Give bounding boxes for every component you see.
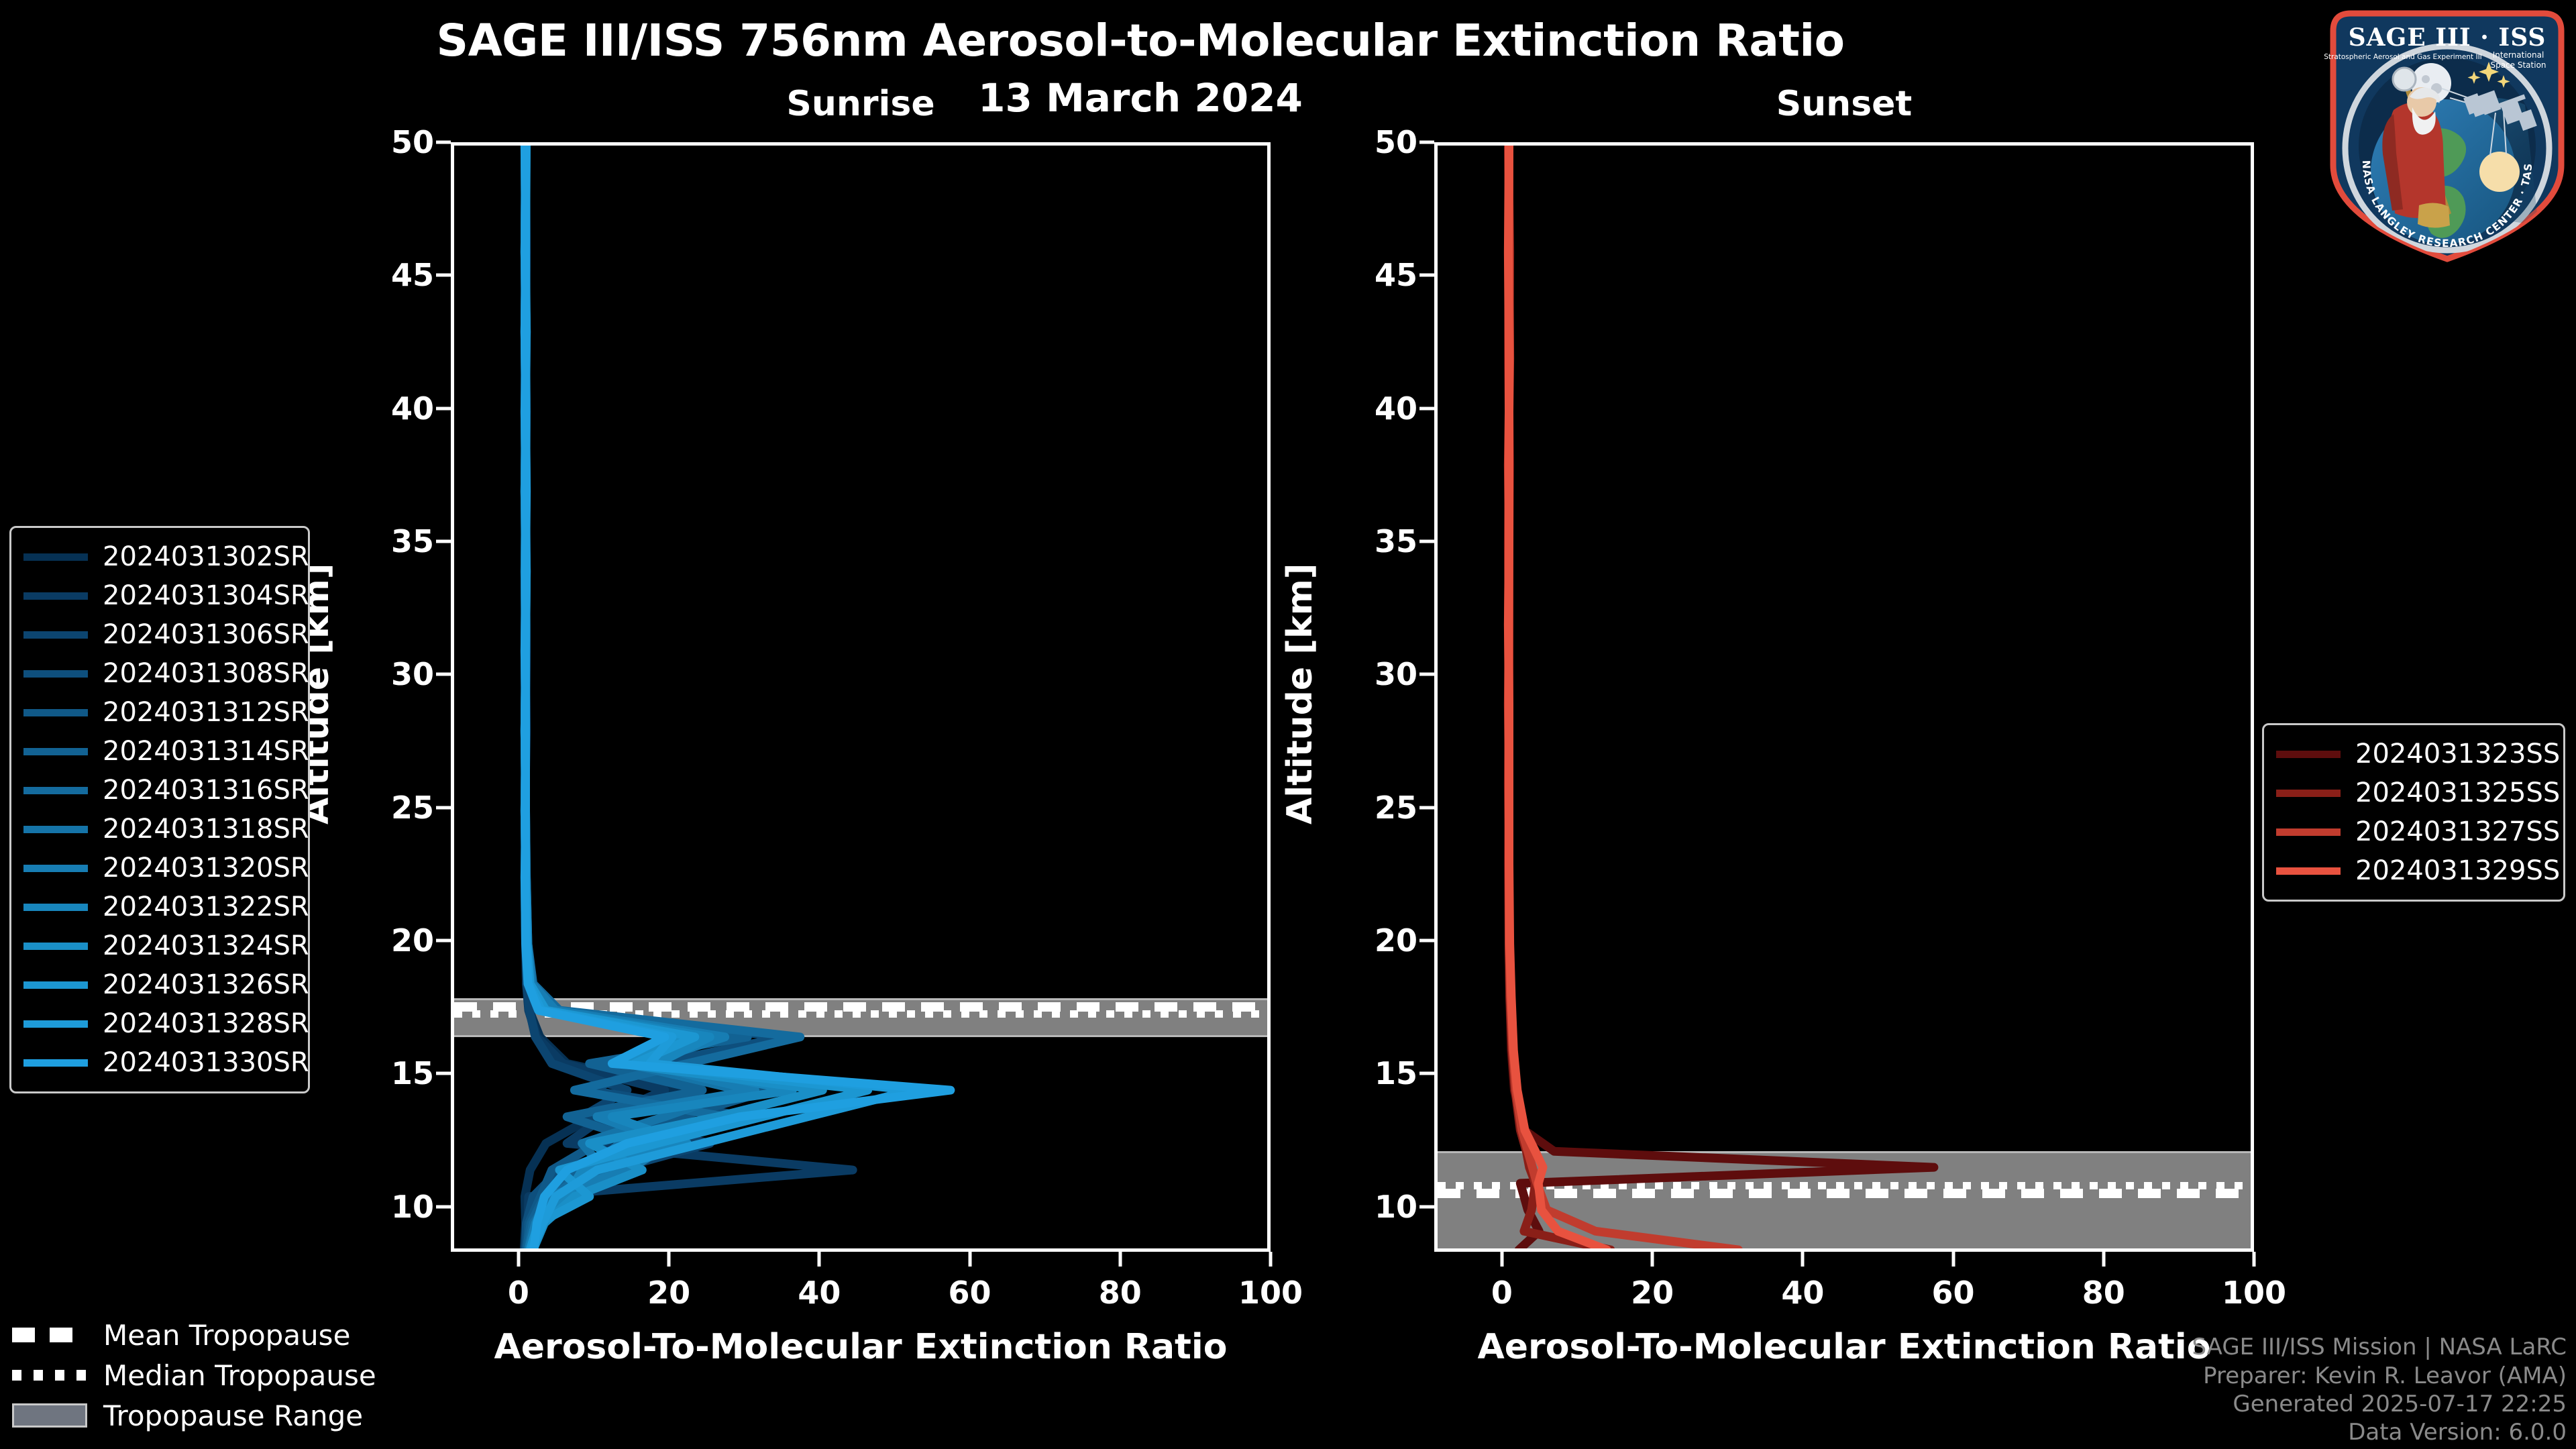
y-axis-tick-label: 25 bbox=[327, 790, 434, 826]
x-axis-tick-label: 60 bbox=[916, 1275, 1024, 1311]
legend-item-label: 2024031308SR bbox=[103, 658, 309, 689]
tropopause-legend-label: Mean Tropopause bbox=[103, 1319, 350, 1352]
logo-subtitle-right-2: Space Station bbox=[2490, 60, 2546, 70]
legend-sunrise[interactable]: 2024031302SR2024031304SR2024031306SR2024… bbox=[9, 526, 310, 1093]
series-line bbox=[1508, 146, 1611, 1248]
y-axis-tick-mark bbox=[436, 938, 451, 942]
y-axis-tick-mark bbox=[1419, 1072, 1434, 1075]
x-axis-tick-label: 100 bbox=[2200, 1275, 2308, 1311]
legend-item[interactable]: 2024031316SR bbox=[23, 771, 296, 810]
sage3-iss-mission-logo: SAGE III · ISS Stratospheric Aerosol and… bbox=[2324, 4, 2571, 267]
legend-item-label: 2024031323SS bbox=[2355, 739, 2560, 769]
x-axis-tick-label: 80 bbox=[1067, 1275, 1174, 1311]
legend-item[interactable]: 2024031323SS bbox=[2276, 735, 2551, 773]
footer-line-generated: Generated 2025-07-17 22:25 bbox=[2192, 1390, 2567, 1418]
y-axis-tick-label: 45 bbox=[1310, 257, 1417, 293]
footer-line-preparer: Preparer: Kevin R. Leavor (AMA) bbox=[2192, 1362, 2567, 1390]
legend-item[interactable]: 2024031327SS bbox=[2276, 812, 2551, 851]
legend-color-swatch bbox=[23, 943, 88, 950]
x-axis-tick-mark bbox=[1951, 1252, 1955, 1267]
logo-svg: SAGE III · ISS Stratospheric Aerosol and… bbox=[2324, 4, 2571, 267]
legend-color-swatch bbox=[23, 826, 88, 833]
y-axis-tick-mark bbox=[436, 1072, 451, 1075]
y-axis-tick-label: 25 bbox=[1310, 790, 1417, 826]
legend-item-label: 2024031325SS bbox=[2355, 777, 2560, 808]
legend-item-label: 2024031304SR bbox=[103, 580, 309, 611]
legend-item[interactable]: 2024031308SR bbox=[23, 654, 296, 693]
x-axis-tick-label: 0 bbox=[465, 1275, 572, 1311]
logo-title: SAGE III · ISS bbox=[2349, 23, 2546, 52]
tropopause-legend-key-band bbox=[12, 1403, 87, 1428]
x-axis-tick-mark bbox=[1651, 1252, 1654, 1267]
legend-color-swatch bbox=[2276, 867, 2341, 875]
legend-item[interactable]: 2024031304SR bbox=[23, 576, 296, 615]
x-axis-tick-mark bbox=[1118, 1252, 1122, 1267]
y-axis-tick-mark bbox=[436, 1205, 451, 1208]
y-axis-tick-label: 30 bbox=[327, 656, 434, 692]
legend-color-swatch bbox=[2276, 751, 2341, 758]
y-axis-tick-label: 35 bbox=[1310, 523, 1417, 559]
logo-subtitle-right-1: International bbox=[2493, 50, 2544, 60]
panel-title-sunset: Sunset bbox=[1434, 84, 2254, 124]
legend-color-swatch bbox=[23, 709, 88, 716]
legend-item-label: 2024031324SR bbox=[103, 930, 309, 961]
y-axis-tick-label: 15 bbox=[327, 1055, 434, 1091]
plot-area-sunrise bbox=[454, 146, 1267, 1248]
footer-line-version: Data Version: 6.0.0 bbox=[2192, 1418, 2567, 1446]
legend-item[interactable]: 2024031318SR bbox=[23, 810, 296, 849]
footer-line-mission: SAGE III/ISS Mission | NASA LaRC bbox=[2192, 1333, 2567, 1361]
tropopause-legend-label: Median Tropopause bbox=[103, 1359, 376, 1392]
legend-item[interactable]: 2024031306SR bbox=[23, 615, 296, 654]
legend-item[interactable]: 2024031320SR bbox=[23, 849, 296, 888]
x-axis-tick-label: 0 bbox=[1448, 1275, 1556, 1311]
y-axis-tick-label: 45 bbox=[327, 257, 434, 293]
legend-item[interactable]: 2024031330SR bbox=[23, 1043, 296, 1082]
x-axis-tick-mark bbox=[2102, 1252, 2105, 1267]
y-axis-tick-mark bbox=[1419, 407, 1434, 410]
tropopause-legend-label: Tropopause Range bbox=[103, 1399, 363, 1432]
y-axis-tick-mark bbox=[1419, 141, 1434, 144]
y-axis-tick-mark bbox=[1419, 274, 1434, 277]
x-axis-label: Aerosol-To-Molecular Extinction Ratio bbox=[391, 1327, 1330, 1367]
logo-sun bbox=[2479, 152, 2520, 192]
legend-item-label: 2024031316SR bbox=[103, 775, 309, 806]
series-layer bbox=[1438, 146, 2251, 1248]
legend-item[interactable]: 2024031302SR bbox=[23, 537, 296, 576]
series-line bbox=[1508, 146, 1934, 1248]
legend-item-label: 2024031312SR bbox=[103, 697, 309, 728]
x-axis-tick-label: 40 bbox=[765, 1275, 873, 1311]
series-line bbox=[1508, 146, 1738, 1248]
x-axis-label: Aerosol-To-Molecular Extinction Ratio bbox=[1375, 1327, 2314, 1367]
legend-color-swatch bbox=[23, 592, 88, 600]
y-axis-tick-label: 15 bbox=[1310, 1055, 1417, 1091]
x-axis-tick-mark bbox=[1269, 1252, 1273, 1267]
y-axis-tick-mark bbox=[436, 539, 451, 543]
x-axis-tick-label: 20 bbox=[615, 1275, 722, 1311]
y-axis-tick-mark bbox=[436, 141, 451, 144]
y-axis-tick-mark bbox=[436, 274, 451, 277]
chart-panel-sunset bbox=[1434, 142, 2254, 1252]
y-axis-tick-label: 40 bbox=[327, 390, 434, 427]
legend-item-label: 2024031327SS bbox=[2355, 816, 2560, 847]
legend-color-swatch bbox=[23, 787, 88, 794]
footer-attribution: SAGE III/ISS Mission | NASA LaRC Prepare… bbox=[2192, 1333, 2567, 1446]
y-axis-tick-label: 50 bbox=[1310, 124, 1417, 160]
y-axis-tick-mark bbox=[1419, 1205, 1434, 1208]
legend-tropopause: Mean TropopauseMedian TropopauseTropopau… bbox=[12, 1315, 388, 1436]
x-axis-tick-mark bbox=[517, 1252, 520, 1267]
x-axis-tick-label: 60 bbox=[1900, 1275, 2007, 1311]
panel-title-sunrise: Sunrise bbox=[451, 84, 1271, 124]
legend-item[interactable]: 2024031312SR bbox=[23, 693, 296, 732]
y-axis-tick-mark bbox=[1419, 539, 1434, 543]
legend-color-swatch bbox=[23, 981, 88, 989]
y-axis-tick-label: 10 bbox=[327, 1189, 434, 1225]
tropopause-legend-item: Tropopause Range bbox=[12, 1395, 388, 1436]
legend-item-label: 2024031314SR bbox=[103, 736, 309, 767]
logo-artwork bbox=[2345, 46, 2549, 250]
x-axis-tick-label: 20 bbox=[1599, 1275, 1706, 1311]
tropopause-legend-key-dash bbox=[12, 1328, 87, 1342]
y-axis-tick-label: 20 bbox=[327, 922, 434, 959]
tropopause-legend-item: Mean Tropopause bbox=[12, 1315, 388, 1355]
legend-item[interactable]: 2024031325SS bbox=[2276, 773, 2551, 812]
y-axis-tick-mark bbox=[436, 673, 451, 676]
legend-item[interactable]: 2024031326SR bbox=[23, 965, 296, 1004]
legend-item[interactable]: 2024031329SS bbox=[2276, 851, 2551, 890]
x-axis-tick-mark bbox=[667, 1252, 671, 1267]
y-axis-tick-label: 50 bbox=[327, 124, 434, 160]
y-axis-tick-label: 35 bbox=[327, 523, 434, 559]
legend-item-label: 2024031318SR bbox=[103, 814, 309, 845]
y-axis-tick-mark bbox=[436, 806, 451, 809]
legend-item[interactable]: 2024031314SR bbox=[23, 732, 296, 771]
legend-color-swatch bbox=[23, 631, 88, 639]
series-layer bbox=[454, 146, 1267, 1248]
legend-color-swatch bbox=[23, 865, 88, 872]
y-axis-tick-label: 40 bbox=[1310, 390, 1417, 427]
legend-color-swatch bbox=[23, 904, 88, 911]
x-axis-tick-label: 80 bbox=[2050, 1275, 2157, 1311]
series-line bbox=[1508, 146, 1607, 1248]
legend-sunset[interactable]: 2024031323SS2024031325SS2024031327SS2024… bbox=[2262, 723, 2565, 902]
legend-item-label: 2024031306SR bbox=[103, 619, 309, 650]
x-axis-tick-label: 40 bbox=[1749, 1275, 1856, 1311]
legend-item[interactable]: 2024031324SR bbox=[23, 926, 296, 965]
legend-item-label: 2024031320SR bbox=[103, 853, 309, 883]
legend-item-label: 2024031329SS bbox=[2355, 855, 2560, 886]
y-axis-tick-mark bbox=[1419, 673, 1434, 676]
tropopause-legend-item: Median Tropopause bbox=[12, 1355, 388, 1395]
y-axis-tick-mark bbox=[436, 407, 451, 410]
legend-color-swatch bbox=[23, 748, 88, 755]
legend-item-label: 2024031326SR bbox=[103, 969, 309, 1000]
legend-color-swatch bbox=[23, 670, 88, 678]
y-axis-tick-label: 20 bbox=[1310, 922, 1417, 959]
legend-color-swatch bbox=[23, 1020, 88, 1028]
legend-item-label: 2024031322SR bbox=[103, 892, 309, 922]
legend-color-swatch bbox=[23, 1059, 88, 1067]
y-axis-tick-label: 10 bbox=[1310, 1189, 1417, 1225]
legend-item-label: 2024031302SR bbox=[103, 541, 309, 572]
chart-panel-sunrise bbox=[451, 142, 1271, 1252]
x-axis-tick-mark bbox=[818, 1252, 821, 1267]
y-axis-tick-label: 30 bbox=[1310, 656, 1417, 692]
legend-item[interactable]: 2024031322SR bbox=[23, 888, 296, 926]
x-axis-tick-mark bbox=[1500, 1252, 1503, 1267]
x-axis-tick-mark bbox=[968, 1252, 971, 1267]
plot-area-sunset bbox=[1438, 146, 2251, 1248]
x-axis-tick-mark bbox=[2253, 1252, 2256, 1267]
legend-item-label: 2024031328SR bbox=[103, 1008, 309, 1039]
page-title: SAGE III/ISS 756nm Aerosol-to-Molecular … bbox=[0, 15, 2281, 66]
tropopause-legend-key-dot bbox=[12, 1370, 87, 1381]
y-axis-tick-mark bbox=[1419, 806, 1434, 809]
y-axis-tick-mark bbox=[1419, 938, 1434, 942]
x-axis-tick-label: 100 bbox=[1217, 1275, 1324, 1311]
legend-item[interactable]: 2024031328SR bbox=[23, 1004, 296, 1043]
legend-color-swatch bbox=[2276, 790, 2341, 797]
legend-color-swatch bbox=[2276, 828, 2341, 836]
logo-subtitle-left: Stratospheric Aerosol and Gas Experiment… bbox=[2324, 53, 2482, 61]
legend-color-swatch bbox=[23, 553, 88, 561]
x-axis-tick-mark bbox=[1801, 1252, 1805, 1267]
legend-item-label: 2024031330SR bbox=[103, 1047, 309, 1078]
logo-moon-crater bbox=[2422, 75, 2430, 83]
y-axis-label: Altitude [km] bbox=[1280, 563, 1320, 824]
